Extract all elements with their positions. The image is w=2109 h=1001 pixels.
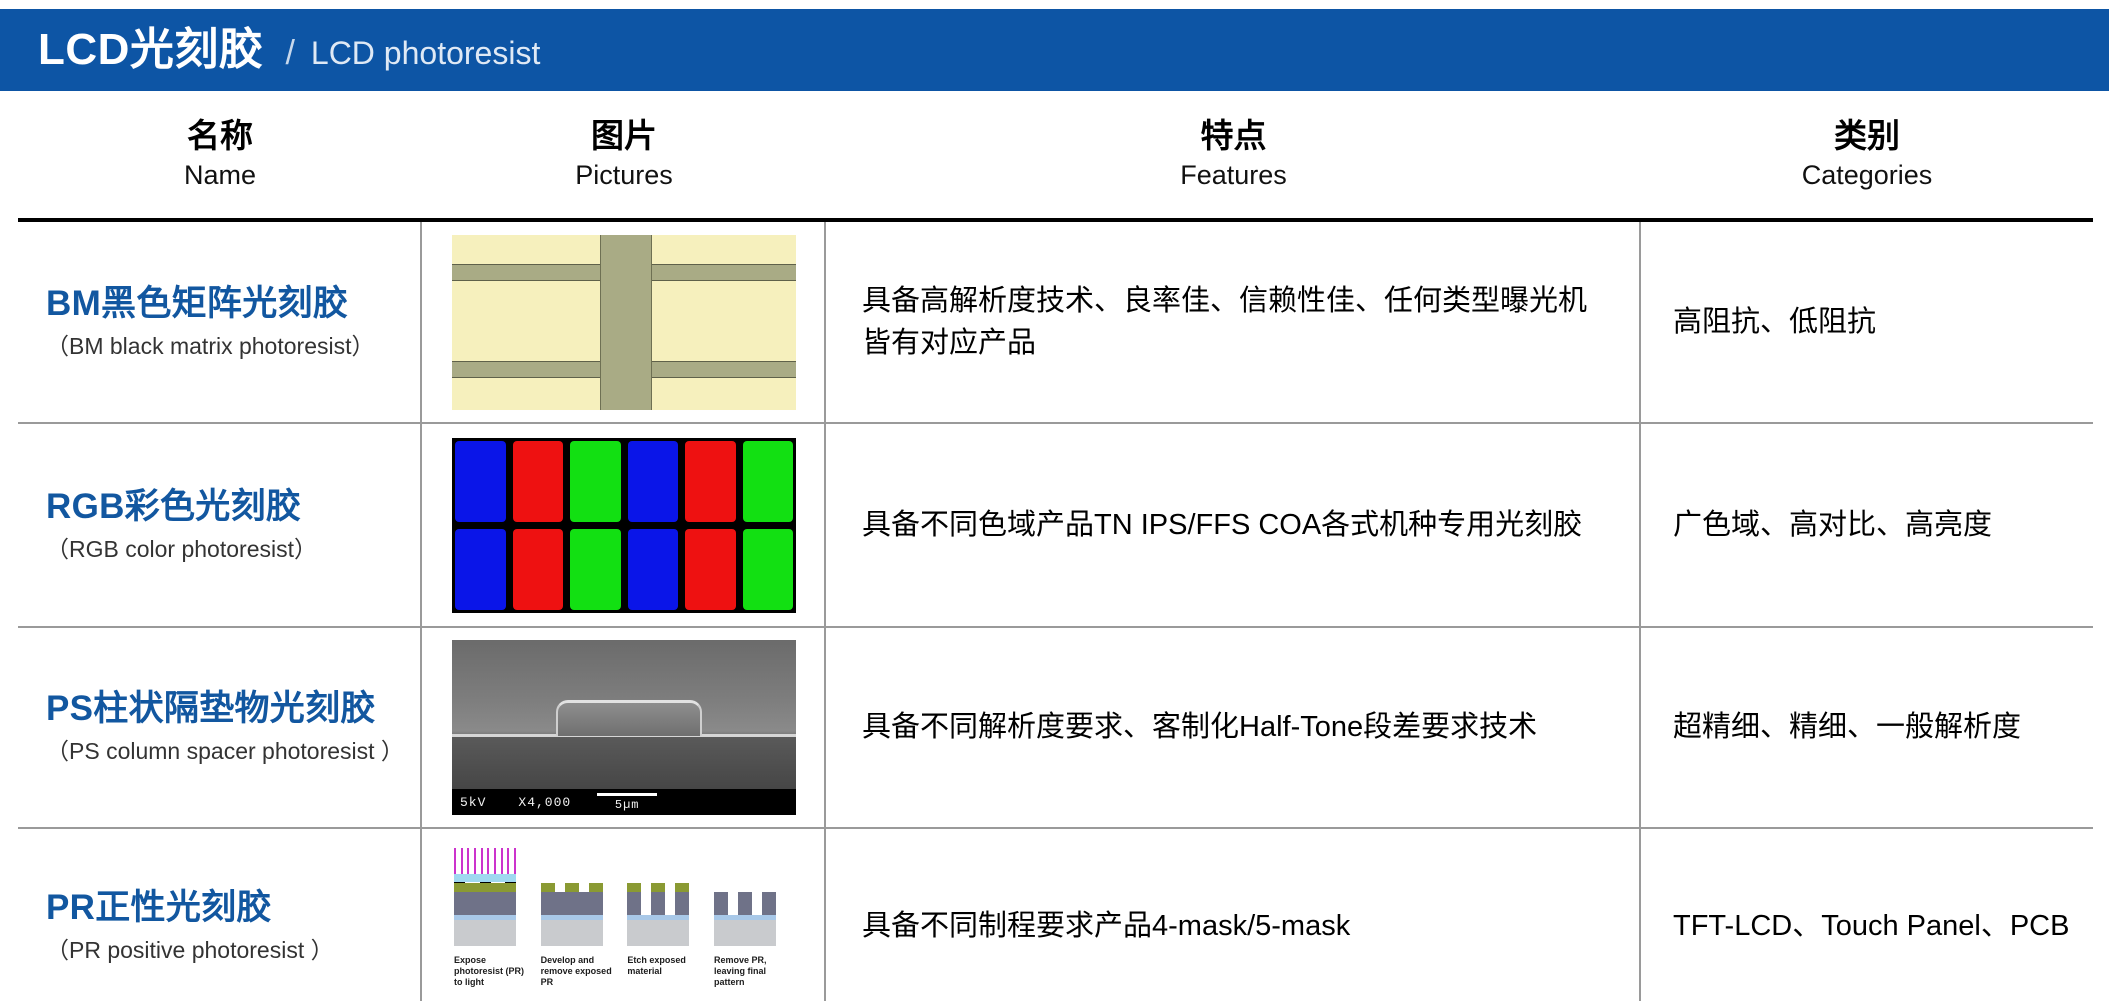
rgb-subpixel-green xyxy=(570,529,621,610)
row-picture-cell-pr: Expose photoresist (PR) to light xyxy=(422,829,826,1001)
pr-etched-pillar xyxy=(627,883,641,915)
column-header-pictures: 图片 Pictures xyxy=(422,110,826,218)
row-name-cell-ps: PS柱状隔垫物光刻胶 （PS column spacer photoresist… xyxy=(18,628,422,827)
pr-ray xyxy=(474,848,476,874)
pr-step-artwork xyxy=(541,848,609,952)
product-categories-text: 超精细、精细、一般解析度 xyxy=(1673,707,2021,748)
pr-ray xyxy=(487,848,489,874)
pr-step-develop: Develop and remove exposed PR xyxy=(541,848,621,1001)
pr-target-material-layer xyxy=(454,892,516,915)
product-name-cn: BM黑色矩阵光刻胶 xyxy=(46,283,348,325)
pr-resist-tooth xyxy=(589,883,603,892)
product-name-cn: PS柱状隔垫物光刻胶 xyxy=(46,688,376,730)
column-header-features-cn: 特点 xyxy=(1201,115,1267,156)
pr-mask-plate xyxy=(454,874,516,882)
pr-final-pillar xyxy=(762,892,776,915)
pr-etched-pillar xyxy=(675,883,689,915)
product-name-en: （RGB color photoresist） xyxy=(46,535,317,565)
sem-column-spacer xyxy=(556,700,702,736)
sem-scale-label: 5µm xyxy=(615,798,640,812)
pr-step-caption: Develop and remove exposed PR xyxy=(541,955,619,989)
pr-etched-pillars xyxy=(627,883,689,915)
rgb-subpixel-blue xyxy=(628,441,679,522)
pr-light-rays xyxy=(454,848,516,874)
row-categories-cell-bm: 高阻抗、低阻抗 xyxy=(1641,222,2093,422)
product-features-text: 具备不同制程要求产品4-mask/5-mask xyxy=(862,905,1350,947)
pr-substrate-layer xyxy=(454,920,516,946)
rgb-subpixel-red xyxy=(513,529,564,610)
product-table: 名称 Name 图片 Pictures 特点 Features 类别 Categ… xyxy=(18,110,2093,1001)
rgb-subpixel-green xyxy=(743,529,794,610)
sem-scale-bar xyxy=(597,793,657,796)
bm-black-matrix-image xyxy=(452,235,796,410)
column-header-categories: 类别 Categories xyxy=(1641,110,2093,218)
rgb-subpixel-red xyxy=(685,441,736,522)
row-name-cell-pr: PR正性光刻胶 （PR positive photoresist ） xyxy=(18,829,422,1001)
pr-step-artwork xyxy=(714,848,782,952)
pr-ray xyxy=(461,848,463,874)
bm-vertical-line xyxy=(600,235,652,410)
pr-step-etch: Etch exposed material xyxy=(627,848,707,1001)
pr-step-artwork xyxy=(454,848,522,952)
table-header-row: 名称 Name 图片 Pictures 特点 Features 类别 Categ… xyxy=(18,110,2093,218)
sem-scale-group: 5µm xyxy=(597,793,657,812)
page-title-cn: LCD光刻胶 xyxy=(38,28,263,72)
pr-etched-pillar xyxy=(651,883,665,915)
pr-layer-stack xyxy=(541,883,603,946)
pr-ray xyxy=(467,848,469,874)
column-header-pictures-cn: 图片 xyxy=(591,115,657,156)
row-features-cell-pr: 具备不同制程要求产品4-mask/5-mask xyxy=(826,829,1641,1001)
page-title-en: LCD photoresist xyxy=(311,37,540,69)
product-categories-text: 广色域、高对比、高亮度 xyxy=(1673,505,1992,546)
rgb-subpixel-green xyxy=(743,441,794,522)
pr-ray xyxy=(514,848,516,874)
pr-ray xyxy=(454,848,456,874)
row-features-cell-rgb: 具备不同色域产品TN IPS/FFS COA各式机种专用光刻胶 xyxy=(826,424,1641,626)
pr-ray xyxy=(494,848,496,874)
pr-photoresist-layer xyxy=(454,883,516,892)
pr-ray xyxy=(501,848,503,874)
table-row: PR正性光刻胶 （PR positive photoresist ） xyxy=(18,829,2093,1001)
row-name-cell-rgb: RGB彩色光刻胶 （RGB color photoresist） xyxy=(18,424,422,626)
pr-final-pillar xyxy=(738,892,752,915)
rgb-subpixel-green xyxy=(570,441,621,522)
row-categories-cell-ps: 超精细、精细、一般解析度 xyxy=(1641,628,2093,827)
product-features-text: 具备不同解析度要求、客制化Half-Tone段差要求技术 xyxy=(862,706,1537,748)
product-categories-text: 高阻抗、低阻抗 xyxy=(1673,302,1876,343)
pr-step-caption: Expose photoresist (PR) to light xyxy=(454,955,532,989)
column-header-pictures-en: Pictures xyxy=(575,158,673,193)
column-header-name: 名称 Name xyxy=(18,110,422,218)
pr-step-artwork xyxy=(627,848,695,952)
pr-layer-stack xyxy=(627,883,689,946)
row-features-cell-bm: 具备高解析度技术、良率佳、信赖性佳、任何类型曝光机皆有对应产品 xyxy=(826,222,1641,422)
product-name-cn: PR正性光刻胶 xyxy=(46,887,272,929)
pr-target-material-layer xyxy=(541,892,603,915)
pr-resist-tooth xyxy=(565,883,579,892)
pr-layer-stack xyxy=(454,883,516,946)
pr-step-caption: Remove PR, leaving final pattern xyxy=(714,955,792,989)
row-categories-cell-pr: TFT-LCD、Touch Panel、PCB xyxy=(1641,829,2093,1001)
pr-final-pattern xyxy=(714,892,776,915)
product-name-en: （BM black matrix photoresist） xyxy=(46,332,374,362)
rgb-subpixel-blue xyxy=(628,529,679,610)
sem-voltage-label: 5kV xyxy=(460,795,486,810)
row-categories-cell-rgb: 广色域、高对比、高亮度 xyxy=(1641,424,2093,626)
row-picture-cell-rgb xyxy=(422,424,826,626)
table-row: RGB彩色光刻胶 （RGB color photoresist） xyxy=(18,424,2093,626)
column-header-categories-cn: 类别 xyxy=(1834,115,1900,156)
ps-column-spacer-sem-image: 5kV X4,000 5µm xyxy=(452,640,796,815)
sem-magnification-label: X4,000 xyxy=(518,795,571,810)
rgb-subpixel-red xyxy=(685,529,736,610)
product-name-en: （PR positive photoresist ） xyxy=(46,936,334,966)
pr-step-remove: Remove PR, leaving final pattern xyxy=(714,848,794,1001)
pr-ray xyxy=(507,848,509,874)
column-header-features-en: Features xyxy=(1180,158,1287,193)
pr-process-diagram-image: Expose photoresist (PR) to light xyxy=(452,844,796,1001)
header-title-group: LCD光刻胶 / LCD photoresist xyxy=(38,28,540,72)
title-separator: / xyxy=(285,36,294,70)
product-features-text: 具备高解析度技术、良率佳、信赖性佳、任何类型曝光机皆有对应产品 xyxy=(862,280,1615,364)
product-categories-text: TFT-LCD、Touch Panel、PCB xyxy=(1673,906,2069,947)
column-header-name-cn: 名称 xyxy=(187,115,253,156)
lcd-photoresist-product-table-page: LCD光刻胶 / LCD photoresist 名称 Name 图片 Pict… xyxy=(0,0,2109,1001)
rgb-color-filter-image xyxy=(452,438,796,613)
column-header-name-en: Name xyxy=(184,158,256,193)
pr-step-caption: Etch exposed material xyxy=(627,955,705,978)
pr-substrate-layer xyxy=(714,920,776,946)
pr-final-pillar xyxy=(714,892,728,915)
pr-layer-stack xyxy=(714,892,776,946)
column-header-features: 特点 Features xyxy=(826,110,1641,218)
product-name-cn: RGB彩色光刻胶 xyxy=(46,486,301,528)
pr-substrate-layer xyxy=(541,920,603,946)
rgb-subpixel-blue xyxy=(455,529,506,610)
sem-substrate xyxy=(452,736,796,789)
product-name-en: （PS column spacer photoresist ） xyxy=(46,737,404,767)
pr-step-expose: Expose photoresist (PR) to light xyxy=(454,848,534,1001)
pr-substrate-layer xyxy=(627,920,689,946)
sem-info-bar: 5kV X4,000 5µm xyxy=(452,789,796,815)
product-features-text: 具备不同色域产品TN IPS/FFS COA各式机种专用光刻胶 xyxy=(862,504,1582,546)
pr-ray xyxy=(481,848,483,874)
table-row: BM黑色矩阵光刻胶 （BM black matrix photoresist） … xyxy=(18,222,2093,422)
row-picture-cell-bm xyxy=(422,222,826,422)
row-picture-cell-ps: 5kV X4,000 5µm xyxy=(422,628,826,827)
rgb-subpixel-red xyxy=(513,441,564,522)
page-header-bar: LCD光刻胶 / LCD photoresist xyxy=(0,9,2109,91)
pr-patterned-photoresist xyxy=(541,883,603,892)
row-name-cell-bm: BM黑色矩阵光刻胶 （BM black matrix photoresist） xyxy=(18,222,422,422)
row-features-cell-ps: 具备不同解析度要求、客制化Half-Tone段差要求技术 xyxy=(826,628,1641,827)
rgb-subpixel-blue xyxy=(455,441,506,522)
column-header-categories-en: Categories xyxy=(1802,158,1933,193)
pr-resist-tooth xyxy=(541,883,555,892)
table-row: PS柱状隔垫物光刻胶 （PS column spacer photoresist… xyxy=(18,628,2093,827)
